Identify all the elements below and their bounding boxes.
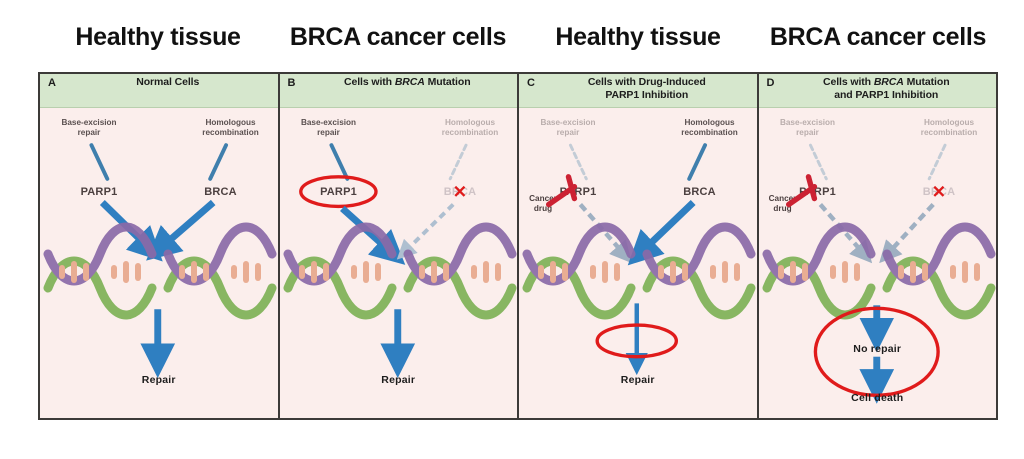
column-header-brca-cancer-cells-2: BRCA cancer cells — [758, 14, 998, 60]
red-x-icon: ✕ — [453, 184, 467, 201]
panel-a-left-pathway-label: Base-excision repair — [46, 118, 132, 138]
panel-c-cancer-drug-line-1: Cancer — [521, 194, 565, 204]
panel-d-cancer-drug-line-1: Cancer — [761, 194, 805, 204]
panel-a-title-line-1: Normal Cells — [62, 76, 274, 89]
panel-c-cancer-drug-line-2: drug — [521, 204, 565, 214]
panel-a-dna-helix — [46, 242, 274, 300]
panel-c-header-band: C Cells with Drug-Induced PARP1 Inhibiti… — [519, 74, 757, 108]
panel-d-title-line-2: and PARP1 Inhibition — [781, 89, 993, 102]
parp1-brca-pathway-figure: A Normal Cells Base-excision repair Homo… — [38, 72, 998, 420]
panel-a-gene-brca: BRCA — [184, 186, 258, 198]
panel-d-right-pathway-line-2: recombination — [906, 128, 992, 138]
panel-b-title-line-1: Cells with BRCA Mutation — [302, 76, 514, 89]
panel-c-title-line-1: Cells with Drug-Induced — [541, 76, 753, 89]
panel-c-title: Cells with Drug-Induced PARP1 Inhibition — [541, 76, 753, 102]
column-headers: Healthy tissue BRCA cancer cells Healthy… — [38, 14, 998, 60]
panel-d-right-pathway-connector-disabled — [929, 145, 945, 179]
panel-b-left-pathway-connector — [331, 145, 347, 179]
panel-d-left-pathway-line-1: Base-excision — [765, 118, 851, 128]
panel-c-right-pathway-connector — [689, 145, 705, 179]
panel-b-left-pathway-label: Base-excision repair — [286, 118, 372, 138]
panel-c-left-pathway-label: Base-excision repair — [525, 118, 611, 138]
panel-c-right-pathway-line-1: Homologous — [667, 118, 753, 128]
panel-d-left-pathway-line-2: repair — [765, 128, 851, 138]
panel-a-gene-parp1: PARP1 — [62, 186, 136, 198]
panel-c-right-pathway-line-2: recombination — [667, 128, 753, 138]
panel-a-right-pathway-connector — [210, 145, 226, 179]
panel-d-header-band: D Cells with BRCA Mutation and PARP1 Inh… — [759, 74, 997, 108]
panel-d-letter: D — [767, 77, 775, 89]
panel-b-left-pathway-line-2: repair — [286, 128, 372, 138]
panel-c-gene-brca: BRCA — [663, 186, 737, 198]
panel-d-right-pathway-line-1: Homologous — [906, 118, 992, 128]
panel-c-red-highlight-ellipse-arrow — [597, 325, 676, 357]
panel-a-left-pathway-line-2: repair — [46, 128, 132, 138]
panel-d-right-pathway-label: Homologous recombination — [906, 118, 992, 138]
panel-d-cancer-drug-line-2: drug — [761, 204, 805, 214]
panel-c-left-pathway-line-1: Base-excision — [525, 118, 611, 128]
panel-a-title: Normal Cells — [62, 76, 274, 89]
panel-c-right-pathway-label: Homologous recombination — [667, 118, 753, 138]
panel-b-right-pathway-label: Homologous recombination — [427, 118, 513, 138]
panel-c-dna-helix — [525, 242, 753, 300]
panel-d-title: Cells with BRCA Mutation and PARP1 Inhib… — [781, 76, 993, 102]
column-header-brca-cancer-cells-1: BRCA cancer cells — [278, 14, 518, 60]
panel-c-letter: C — [527, 77, 535, 89]
panel-d-cancer-drug-label: Cancer drug — [761, 194, 805, 214]
panel-d-title-line-1: Cells with BRCA Mutation — [781, 76, 993, 89]
panel-d-gene-brca: BRCA ✕ — [902, 186, 976, 198]
panel-a-letter: A — [48, 77, 56, 89]
panel-b-right-pathway-connector-disabled — [450, 145, 466, 179]
panel-b-dna-helix — [286, 242, 514, 300]
panel-d-left-pathway-label: Base-excision repair — [765, 118, 851, 138]
panel-c-outcome-repair: Repair — [519, 374, 757, 386]
red-x-icon: ✕ — [932, 184, 946, 201]
panel-c-title-line-2: PARP1 Inhibition — [541, 89, 753, 102]
column-header-healthy-tissue-1: Healthy tissue — [38, 14, 278, 60]
panel-a-right-pathway-line-2: recombination — [188, 128, 274, 138]
panel-b-header-band: B Cells with BRCA Mutation — [280, 74, 518, 108]
panel-b-right-pathway-line-2: recombination — [427, 128, 513, 138]
panel-b-title-italic-gene: BRCA — [395, 76, 425, 88]
panel-b-gene-brca: BRCA ✕ — [423, 186, 497, 198]
panel-c-left-pathway-line-2: repair — [525, 128, 611, 138]
panel-c-cancer-drug-label: Cancer drug — [521, 194, 565, 214]
panel-c: C Cells with Drug-Induced PARP1 Inhibiti… — [519, 74, 759, 418]
panel-b-title: Cells with BRCA Mutation — [302, 76, 514, 89]
panel-a-right-pathway-line-1: Homologous — [188, 118, 274, 128]
panel-a: A Normal Cells Base-excision repair Homo… — [40, 74, 280, 418]
panel-c-left-pathway-connector-disabled — [570, 145, 586, 179]
panel-b-outcome-repair: Repair — [280, 374, 518, 386]
panel-d-left-pathway-connector-disabled — [810, 145, 826, 179]
panel-b-gene-parp1: PARP1 — [302, 186, 376, 198]
panel-d-dna-helix — [765, 242, 993, 300]
panel-d-title-italic-gene: BRCA — [874, 76, 904, 88]
panel-a-left-pathway-line-1: Base-excision — [46, 118, 132, 128]
panel-d: D Cells with BRCA Mutation and PARP1 Inh… — [759, 74, 997, 418]
panel-a-left-pathway-connector — [91, 145, 107, 179]
panel-d-outcome-no-repair: No repair — [759, 343, 997, 355]
panel-b-right-pathway-line-1: Homologous — [427, 118, 513, 128]
panel-a-outcome-repair: Repair — [40, 374, 278, 386]
panel-d-outcome-cell-death: Cell death — [759, 392, 997, 404]
panel-b: B Cells with BRCA Mutation Base-excision… — [280, 74, 520, 418]
panel-b-letter: B — [288, 77, 296, 89]
panel-a-right-pathway-label: Homologous recombination — [188, 118, 274, 138]
panel-a-header-band: A Normal Cells — [40, 74, 278, 108]
column-header-healthy-tissue-2: Healthy tissue — [518, 14, 758, 60]
panel-b-left-pathway-line-1: Base-excision — [286, 118, 372, 128]
